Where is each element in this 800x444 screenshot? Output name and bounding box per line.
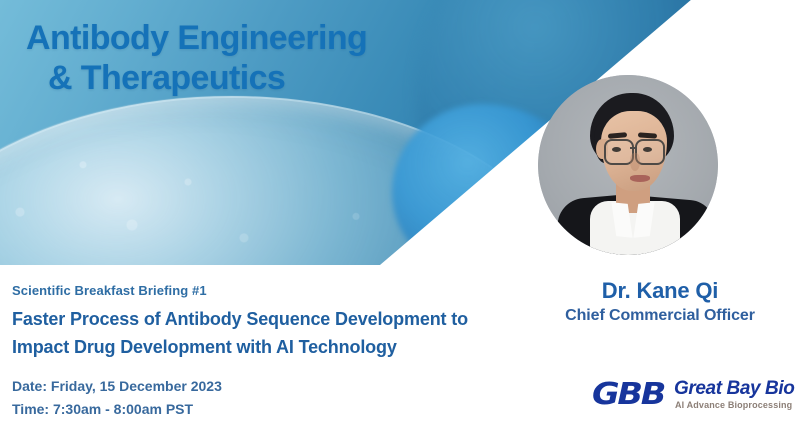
- event-meta: Date: Friday, 15 December 2023 Time: 7:3…: [12, 375, 222, 421]
- event-title-line-1: Antibody Engineering: [26, 19, 367, 57]
- logo-wordmark: Great Bay Bio: [674, 378, 794, 400]
- talk-title-line-2: Impact Drug Development with AI Technolo…: [12, 337, 397, 357]
- portrait-glasses-bridge: [630, 147, 635, 149]
- webinar-banner: Antibody Engineering & Therapeutics Scie…: [0, 0, 800, 444]
- speaker-name: Dr. Kane Qi: [520, 278, 800, 304]
- talk-title: Faster Process of Antibody Sequence Deve…: [12, 305, 512, 361]
- briefing-kicker: Scientific Breakfast Briefing #1: [12, 283, 207, 298]
- speaker-role: Chief Commercial Officer: [520, 307, 800, 325]
- logo-tagline: AI Advance Bioprocessing: [675, 400, 792, 410]
- portrait-nose: [630, 153, 640, 171]
- portrait-mouth: [630, 175, 650, 182]
- event-time: Time: 7:30am - 8:00am PST: [12, 398, 222, 421]
- talk-title-line-1: Faster Process of Antibody Sequence Deve…: [12, 309, 468, 329]
- event-date: Date: Friday, 15 December 2023: [12, 375, 222, 398]
- event-title: Antibody Engineering & Therapeutics: [26, 18, 367, 98]
- lower-info-panel: Scientific Breakfast Briefing #1 Faster …: [0, 265, 800, 444]
- speaker-portrait: [538, 75, 718, 255]
- company-logo: GBB Great Bay Bio AI Advance Bioprocessi…: [592, 375, 792, 415]
- event-title-line-2: & Therapeutics: [48, 58, 367, 98]
- gbb-monogram-icon: GBB: [592, 377, 664, 412]
